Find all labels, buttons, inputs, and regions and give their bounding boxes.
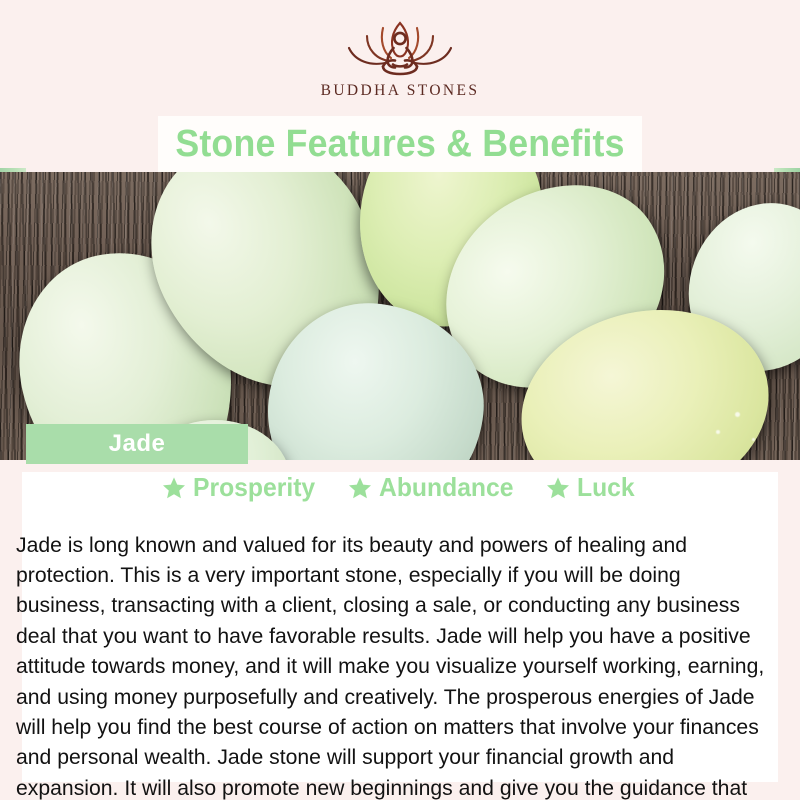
- star-icon: [162, 476, 186, 500]
- star-icon: [348, 476, 372, 500]
- benefit-label: Luck: [577, 472, 635, 503]
- stone-name-badge: Jade: [26, 424, 248, 464]
- lotus-meditation-icon: [335, 16, 465, 78]
- poster: BUDDHA STONES Stone Features & Benefits …: [0, 0, 800, 800]
- brand-name: BUDDHA STONES: [321, 82, 480, 100]
- title-band: Stone Features & Benefits: [158, 116, 642, 172]
- stone-glint: [752, 438, 755, 441]
- star-icon: [546, 476, 570, 500]
- brand-header: BUDDHA STONES: [0, 0, 800, 120]
- benefit-item: Abundance: [348, 472, 521, 503]
- benefit-item: Prosperity: [162, 472, 322, 503]
- benefit-label: Prosperity: [193, 472, 315, 503]
- page-title: Stone Features & Benefits: [175, 123, 624, 166]
- stone-description: Jade is long known and valued for its be…: [16, 530, 774, 800]
- benefit-label: Abundance: [379, 472, 513, 503]
- stone-glint: [716, 430, 720, 434]
- stone-glint: [735, 412, 740, 417]
- stone-photo: [0, 172, 800, 460]
- benefits-row: Prosperity Abundance Luck: [0, 472, 800, 503]
- benefit-item: Luck: [546, 472, 638, 503]
- stone-name-label: Jade: [109, 430, 166, 458]
